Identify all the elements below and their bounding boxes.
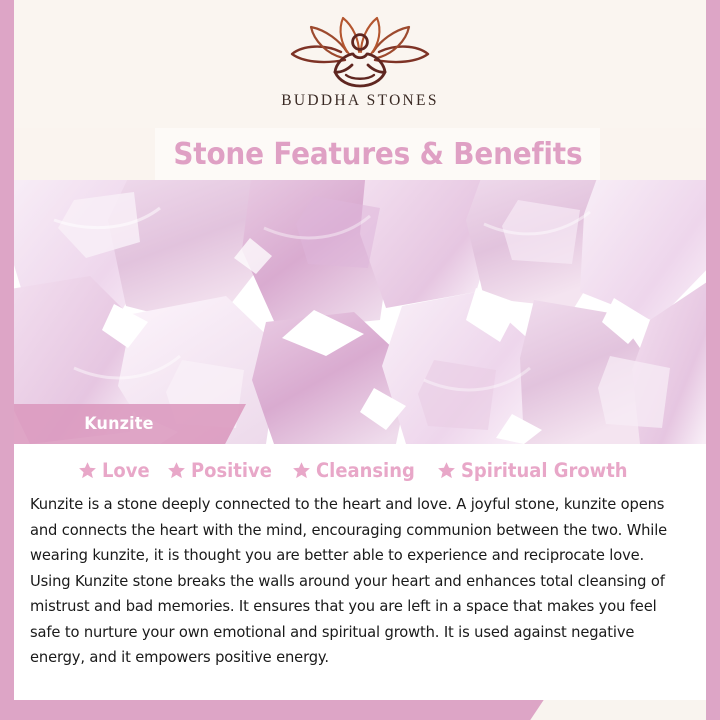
star-icon (78, 461, 97, 480)
brand-name: BUDDHA STONES (14, 92, 706, 110)
frame-bottom-border (0, 698, 545, 720)
frame-left-border (0, 0, 14, 720)
page-title: Stone Features & Benefits (173, 137, 582, 172)
title-banner: Stone Features & Benefits (14, 128, 706, 180)
feature-tag: Love (78, 459, 154, 482)
content-panel: Love Positive Cleansing Spiritual Growth (14, 444, 706, 700)
header: BUDDHA STONES (14, 0, 706, 128)
feature-tags: Love Positive Cleansing Spiritual Growth (14, 444, 706, 492)
star-icon (437, 461, 456, 480)
feature-tag: Cleansing (292, 459, 423, 482)
star-icon (292, 461, 311, 480)
frame-right-border (706, 0, 720, 720)
description-paragraph: Kunzite is a stone deeply connected to t… (30, 492, 689, 569)
feature-tag: Positive (167, 459, 279, 482)
feature-tag-label: Love (102, 459, 150, 482)
stone-info-card: BUDDHA STONES Stone Features & Benefits (0, 0, 720, 720)
stone-description: Kunzite is a stone deeply connected to t… (14, 492, 706, 671)
description-paragraph: Using Kunzite stone breaks the walls aro… (30, 569, 689, 671)
title-box: Stone Features & Benefits (155, 128, 600, 180)
star-icon (167, 461, 186, 480)
stone-name: Kunzite (84, 414, 153, 434)
brand-logo: BUDDHA STONES (14, 14, 706, 110)
feature-tag-label: Spiritual Growth (461, 459, 628, 482)
feature-tag-label: Cleansing (316, 459, 415, 482)
lotus-meditation-icon (283, 14, 437, 90)
feature-tag: Spiritual Growth (437, 459, 642, 482)
feature-tag-label: Positive (191, 459, 272, 482)
stone-name-banner: Kunzite (14, 404, 246, 444)
